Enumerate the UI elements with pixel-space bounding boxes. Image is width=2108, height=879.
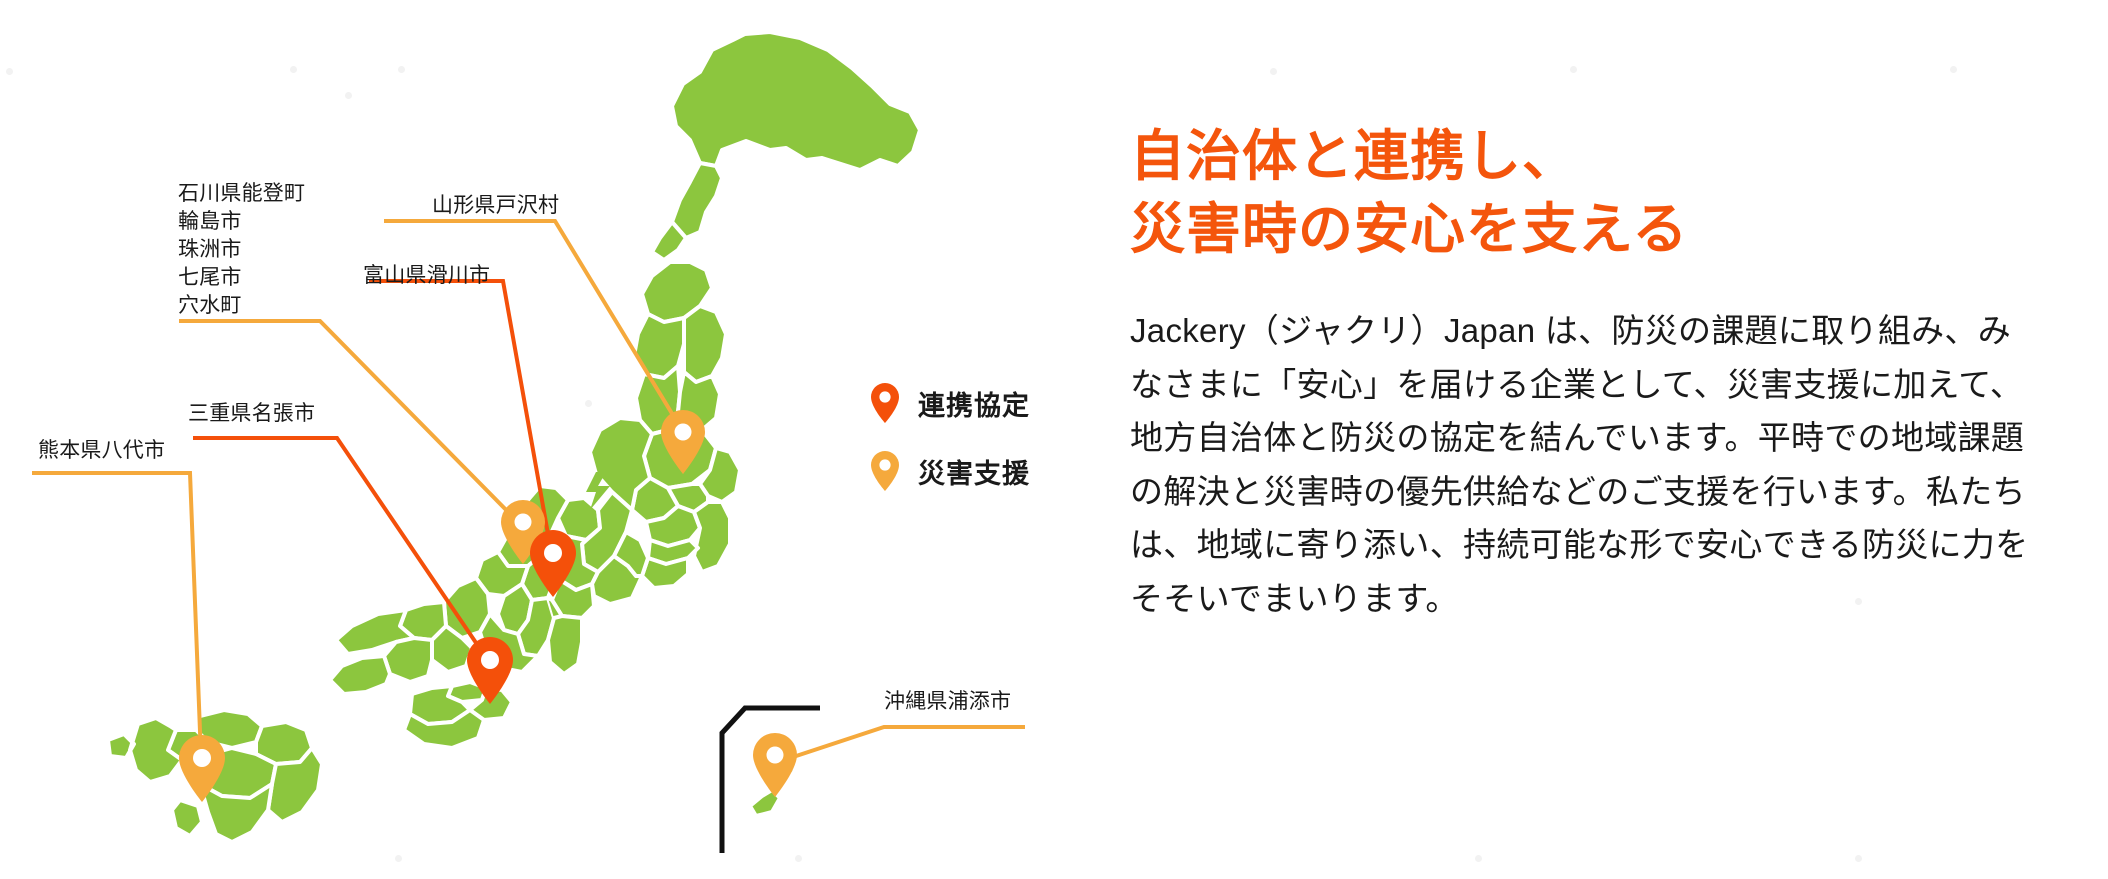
- decor-speck: [1855, 855, 1862, 862]
- callout-line: 輪島市: [178, 208, 305, 236]
- legend-partnership[interactable]: 連携協定: [870, 382, 1030, 424]
- callout-mie: 三重県名張市: [188, 400, 315, 428]
- region-hokkaido: [672, 32, 920, 170]
- callout-line: 熊本県八代市: [38, 437, 165, 465]
- callout-line: 七尾市: [178, 264, 305, 292]
- decor-speck: [1570, 66, 1577, 73]
- map-pin-okinawa-urasoe[interactable]: [753, 733, 797, 797]
- map-pin-icon: [870, 450, 900, 492]
- region-chiba: [694, 502, 730, 572]
- legend-disaster-support[interactable]: 災害支援: [870, 450, 1030, 492]
- region-iwate: [684, 306, 726, 382]
- callout-line: 沖縄県浦添市: [884, 688, 1011, 716]
- region-kanagawa: [642, 558, 688, 588]
- callout-toyama: 富山県滑川市: [363, 262, 490, 290]
- copy-block: 自治体と連携し、 災害時の安心を支える Jackery（ジャクリ）Japan は…: [1130, 120, 2030, 625]
- page-root: 石川県能登町 輪島市 珠洲市 七尾市 穴水町 山形県戸沢村 富山県滑川市 三重県…: [0, 0, 2108, 879]
- callout-line: 珠洲市: [178, 236, 305, 264]
- map-pin-icon: [870, 382, 900, 424]
- legend-label: 災害支援: [918, 452, 1030, 491]
- page-title: 自治体と連携し、 災害時の安心を支える: [1130, 120, 2030, 266]
- callout-line: 三重県名張市: [188, 400, 315, 428]
- leader-line-okinawa: [784, 727, 1025, 760]
- headline-line: 災害時の安心を支える: [1130, 193, 2030, 266]
- callout-okinawa: 沖縄県浦添市: [884, 688, 1011, 716]
- leader-line-kumamoto: [32, 473, 201, 757]
- japan-map[interactable]: 石川県能登町 輪島市 珠洲市 七尾市 穴水町 山形県戸沢村 富山県滑川市 三重県…: [0, 0, 1090, 879]
- callout-ishikawa: 石川県能登町 輪島市 珠洲市 七尾市 穴水町: [178, 180, 305, 320]
- map-legend: 連携協定 災害支援: [870, 382, 1030, 492]
- region-yamaguchi: [330, 656, 390, 694]
- region-hokkaido-south: [672, 163, 722, 238]
- callout-line: 山形県戸沢村: [432, 192, 559, 220]
- legend-label: 連携協定: [918, 384, 1030, 423]
- headline-line: 自治体と連携し、: [1130, 120, 2030, 193]
- callout-kumamoto: 熊本県八代市: [38, 437, 165, 465]
- callout-yamagata: 山形県戸沢村: [432, 192, 559, 220]
- decor-speck: [1950, 66, 1957, 73]
- region-nagasaki: [108, 718, 182, 782]
- decor-speck: [1270, 68, 1277, 75]
- callout-line: 石川県能登町: [178, 180, 305, 208]
- body-paragraph: Jackery（ジャクリ）Japan は、防災の課題に取り組み、みなさまに「安心…: [1130, 304, 2030, 625]
- decor-speck: [1475, 855, 1482, 862]
- callout-line: 富山県滑川市: [363, 262, 490, 290]
- callout-line: 穴水町: [178, 292, 305, 320]
